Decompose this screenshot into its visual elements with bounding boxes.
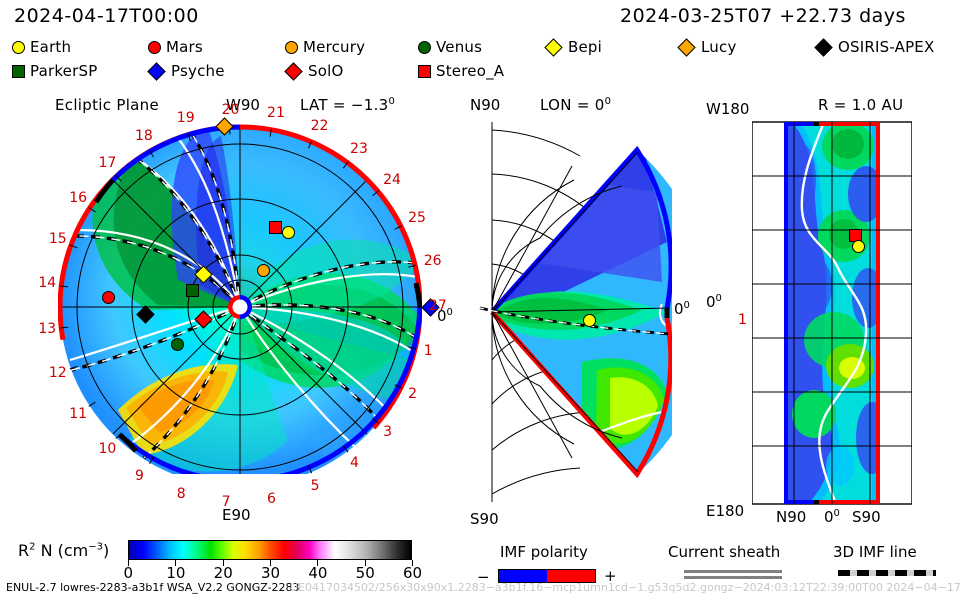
synoptic-tick-e180: E180 <box>706 502 744 520</box>
ecliptic-longitude-label: 8 <box>177 486 186 502</box>
sun-marker <box>228 295 252 319</box>
colorbar[interactable]: 0102030405060 <box>128 540 412 560</box>
ecliptic-longitude-label: 23 <box>350 141 368 157</box>
ecliptic-longitude-label: 5 <box>311 478 320 494</box>
circle-marker-icon <box>12 41 25 54</box>
colorbar-label: R2 N (cm−3) <box>18 541 109 560</box>
current-sheath-swatch-bottom <box>684 576 782 579</box>
ecliptic-longitude-label: 9 <box>135 468 144 484</box>
ecliptic-longitude-label: 10 <box>98 441 116 457</box>
current-sheath-title: Current sheath <box>668 543 780 561</box>
colorbar-tick-label: 30 <box>261 564 280 582</box>
body-marker-mars <box>102 291 115 304</box>
legend-item-lucy: Lucy <box>678 38 737 56</box>
ecliptic-longitude-label: 17 <box>98 155 116 171</box>
ecliptic-longitude-label: 26 <box>424 253 442 269</box>
legend-item-earth: Earth <box>12 38 71 56</box>
run-start-timestamp: 2024-03-25T07 +22.73 days <box>620 5 906 27</box>
ecliptic-longitude-label: 27 <box>429 298 447 314</box>
legend-item-label: SolO <box>308 62 343 80</box>
colorbar-tick-label: 10 <box>166 564 185 582</box>
legend-item-venus: Venus <box>418 38 482 56</box>
body-marker-stereo-a <box>269 221 282 234</box>
legend-item-label: Mars <box>166 38 203 56</box>
circle-marker-icon <box>285 41 298 54</box>
synoptic-left-label-one: 1 <box>738 312 747 328</box>
imf-line-title: 3D IMF line <box>833 543 917 561</box>
imf-line-swatch <box>838 570 936 576</box>
legend-item-psyche: Psyche <box>148 62 225 80</box>
ecliptic-longitude-label: 15 <box>49 231 67 247</box>
legend-item-label: OSIRIS-APEX <box>838 38 934 56</box>
legend-item-stereo-a: Stereo_A <box>418 62 504 80</box>
legend-item-bepi: Bepi <box>545 38 602 56</box>
square-marker-icon <box>418 65 431 78</box>
colorbar-tick-label: 40 <box>308 564 327 582</box>
colorbar-tick-label: 20 <box>214 564 233 582</box>
legend-item-parkersp: ParkerSP <box>12 62 97 80</box>
diamond-marker-icon <box>284 62 302 80</box>
ecliptic-longitude-label: 21 <box>267 105 285 121</box>
circle-marker-icon <box>418 41 431 54</box>
body-marker-parkersp <box>186 284 199 297</box>
legend-item-solo: SolO <box>285 62 343 80</box>
colorbar-tick-label: 0 <box>124 564 134 582</box>
ecliptic-longitude-label: 24 <box>383 172 401 188</box>
ecliptic-longitude-label: 16 <box>69 190 87 206</box>
ecliptic-longitude-label: 20 <box>222 102 240 118</box>
legend-item-label: Bepi <box>568 38 602 56</box>
legend-item-label: Lucy <box>701 38 737 56</box>
ecliptic-longitude-label: 11 <box>69 406 87 422</box>
ecliptic-longitude-label: 2 <box>408 386 417 402</box>
simulation-timestamp: 2024-04-17T00:00 <box>14 5 199 27</box>
legend-item-label: Earth <box>30 38 71 56</box>
legend-item-label: ParkerSP <box>30 62 97 80</box>
synoptic-tick-w180: W180 <box>706 100 749 118</box>
ecliptic-longitude-label: 3 <box>383 424 392 440</box>
square-marker-icon <box>12 65 25 78</box>
diamond-marker-icon <box>814 38 832 56</box>
body-marker-earth <box>583 314 596 327</box>
meridional-plane-plot[interactable] <box>462 112 672 512</box>
current-sheath-swatch-top <box>684 570 782 573</box>
colorbar-gradient <box>128 540 412 560</box>
synoptic-x-tick: N90 <box>776 508 806 526</box>
body-marker-mercury <box>257 264 270 277</box>
footer-metadata: ENUL-2.7 lowres-2283-a3b1f WSA_V2.2 GONG… <box>6 581 300 594</box>
synoptic-map-plot[interactable] <box>752 118 912 508</box>
body-marker-venus <box>171 338 184 351</box>
ecliptic-longitude-label: 13 <box>38 321 56 337</box>
ecliptic-longitude-label: 14 <box>38 275 56 291</box>
synoptic-x-tick: 00 <box>824 508 840 526</box>
synoptic-x-tick: S90 <box>852 508 881 526</box>
legend-item-osiris-apex: OSIRIS-APEX <box>815 38 934 56</box>
ecliptic-longitude-label: 12 <box>49 365 67 381</box>
colorbar-tick-label: 60 <box>403 564 422 582</box>
legend-item-mercury: Mercury <box>285 38 365 56</box>
body-marker-earth <box>282 226 295 239</box>
legend-item-label: Psyche <box>171 62 225 80</box>
ecliptic-longitude-label: 1 <box>424 343 433 359</box>
meridional-tick-zero: 00 <box>674 300 690 318</box>
ecliptic-longitude-label: 18 <box>135 128 153 144</box>
diamond-marker-icon <box>147 62 165 80</box>
legend-item-label: Stereo_A <box>436 62 504 80</box>
footer-metadata-faded: UE0417034502/256x30x90x1.2283−a3b1f.16−m… <box>290 581 960 594</box>
ecliptic-longitude-label: 22 <box>311 118 329 134</box>
legend-item-label: Venus <box>436 38 482 56</box>
ecliptic-longitude-label: 25 <box>408 210 426 226</box>
synoptic-panel-title: R = 1.0 AU <box>818 96 903 114</box>
ecliptic-longitude-label: 4 <box>350 455 359 471</box>
imf-polarity-title: IMF polarity <box>500 543 588 561</box>
ecliptic-longitude-label: 6 <box>267 491 276 507</box>
ecliptic-longitude-label: 19 <box>177 110 195 126</box>
colorbar-tick-label: 50 <box>356 564 375 582</box>
legend-item-mars: Mars <box>148 38 203 56</box>
legend-item-label: Mercury <box>303 38 365 56</box>
diamond-marker-icon <box>677 38 695 56</box>
ecliptic-longitude-label: 7 <box>222 494 231 510</box>
synoptic-left-label-zero: 00 <box>706 293 722 311</box>
body-marker-earth <box>852 240 865 253</box>
diamond-marker-icon <box>544 38 562 56</box>
circle-marker-icon <box>148 41 161 54</box>
